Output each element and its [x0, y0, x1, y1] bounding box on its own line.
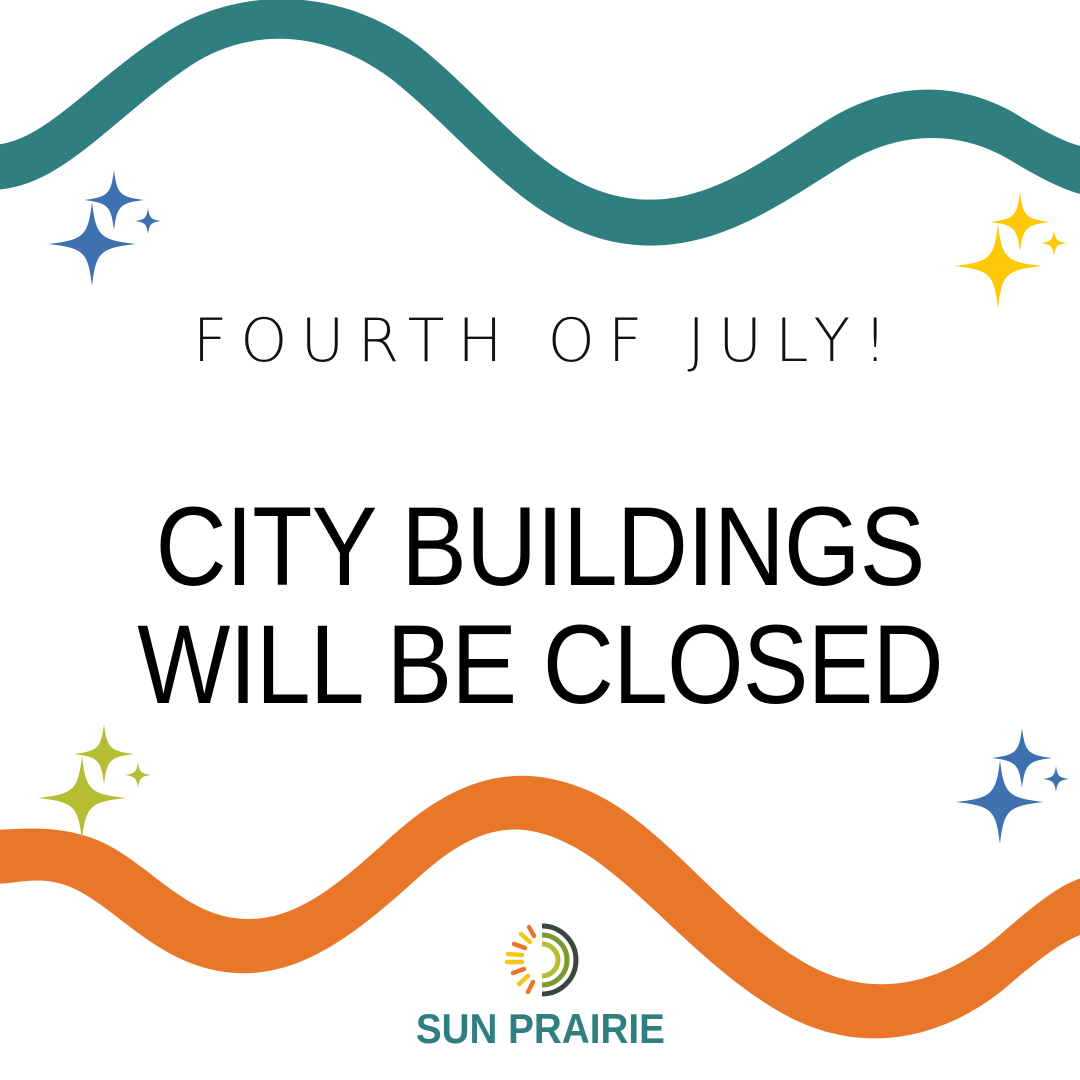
sparkle-cluster-top-left	[44, 164, 174, 294]
four-point-star-icon	[956, 760, 1044, 844]
logo-ray	[513, 969, 524, 973]
sparkle-cluster-bottom-left	[34, 718, 164, 848]
logo-wordmark: SUN PRAIRIE	[415, 1006, 664, 1052]
four-point-star-icon	[38, 756, 126, 840]
four-point-star-icon	[954, 224, 1042, 308]
logo-ray	[529, 927, 534, 936]
logo-ray	[514, 944, 525, 948]
four-point-star-icon	[1041, 230, 1067, 256]
sun-prairie-logo: SUN PRAIRIE	[0, 920, 1080, 1052]
sparkle-cluster-top-right	[950, 186, 1080, 316]
headline: CITY BUILDINGS WILL BE CLOSED	[0, 488, 1080, 724]
logo-ray	[519, 976, 528, 984]
logo-ray	[528, 982, 533, 992]
four-point-star-icon	[1043, 766, 1069, 792]
eyebrow-text: FOURTH OF JULY!	[0, 306, 1080, 376]
logo-ray	[508, 954, 522, 955]
logo-arc-inner	[542, 944, 558, 976]
four-point-star-icon	[135, 208, 161, 234]
poster-canvas: FOURTH OF JULY! CITY BUILDINGS WILL BE C…	[0, 0, 1080, 1080]
sun-arc-logo-icon	[494, 920, 586, 1000]
four-point-star-icon	[125, 762, 151, 788]
headline-line-1: CITY BUILDINGS	[65, 488, 1015, 606]
logo-ray	[521, 934, 530, 942]
sparkle-cluster-bottom-right	[952, 722, 1080, 852]
four-point-star-icon	[48, 202, 136, 286]
headline-line-2: WILL BE CLOSED	[65, 606, 1015, 724]
